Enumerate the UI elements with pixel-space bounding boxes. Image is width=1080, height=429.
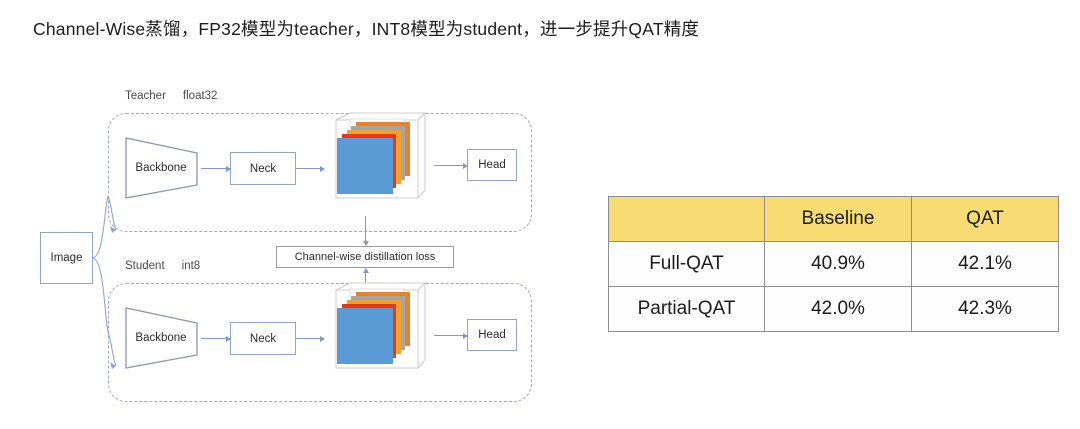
table-header-row: Baseline QAT <box>609 197 1059 242</box>
node-image-label: Image <box>51 252 83 264</box>
cell-full-qat-qat: 42.1% <box>912 242 1059 287</box>
student-precision: int8 <box>182 260 201 272</box>
table-header-qat: QAT <box>912 197 1059 242</box>
teacher-arrow-backbone-neck <box>201 168 230 169</box>
student-head: Head <box>467 319 517 351</box>
teacher-backbone: Backbone <box>123 135 201 201</box>
student-arrow-neck-fmap <box>296 338 324 339</box>
page-title: Channel-Wise蒸馏，FP32模型为teacher，INT8模型为stu… <box>33 16 699 41</box>
cell-full-qat-baseline: 40.9% <box>765 242 912 287</box>
teacher-precision: float32 <box>183 90 218 102</box>
cell-partial-qat-qat: 42.3% <box>912 287 1059 332</box>
teacher-arrow-neck-fmap <box>296 168 324 169</box>
table-row: Full-QAT 40.9% 42.1% <box>609 242 1059 287</box>
teacher-group-label: Teacherfloat32 <box>125 90 217 102</box>
teacher-head-label: Head <box>478 159 506 171</box>
student-feature-map-cube <box>322 282 432 386</box>
student-backbone-label: Backbone <box>123 305 201 371</box>
student-group-label: Studentint8 <box>125 260 200 272</box>
table-header-corner <box>609 197 765 242</box>
teacher-head: Head <box>467 149 517 181</box>
table-row: Partial-QAT 42.0% 42.3% <box>609 287 1059 332</box>
teacher-arrow-fmap-head <box>434 165 467 166</box>
cell-partial-qat-baseline: 42.0% <box>765 287 912 332</box>
teacher-backbone-label: Backbone <box>123 135 201 201</box>
student-arrow-fmap-head <box>434 335 467 336</box>
feature-map-layers <box>322 282 432 386</box>
student-backbone: Backbone <box>123 305 201 371</box>
loss-node: Channel-wise distillation loss <box>276 246 454 268</box>
loss-node-label: Channel-wise distillation loss <box>295 251 436 263</box>
student-name: Student <box>125 260 165 272</box>
teacher-loss-connector <box>365 216 366 242</box>
teacher-neck: Neck <box>230 152 296 185</box>
distillation-diagram: Image Teacherfloat32 Backbone Neck <box>0 70 600 420</box>
row-label-full-qat: Full-QAT <box>609 242 765 287</box>
teacher-name: Teacher <box>125 90 166 102</box>
teacher-feature-map-cube <box>322 112 432 216</box>
student-neck: Neck <box>230 322 296 355</box>
node-image: Image <box>40 232 93 284</box>
row-label-partial-qat: Partial-QAT <box>609 287 765 332</box>
student-neck-label: Neck <box>250 333 276 345</box>
student-head-label: Head <box>478 329 506 341</box>
results-table: Baseline QAT Full-QAT 40.9% 42.1% Partia… <box>608 196 1059 332</box>
feature-map-layers <box>322 112 432 216</box>
table-header-baseline: Baseline <box>765 197 912 242</box>
student-arrow-backbone-neck <box>201 338 230 339</box>
teacher-neck-label: Neck <box>250 163 276 175</box>
